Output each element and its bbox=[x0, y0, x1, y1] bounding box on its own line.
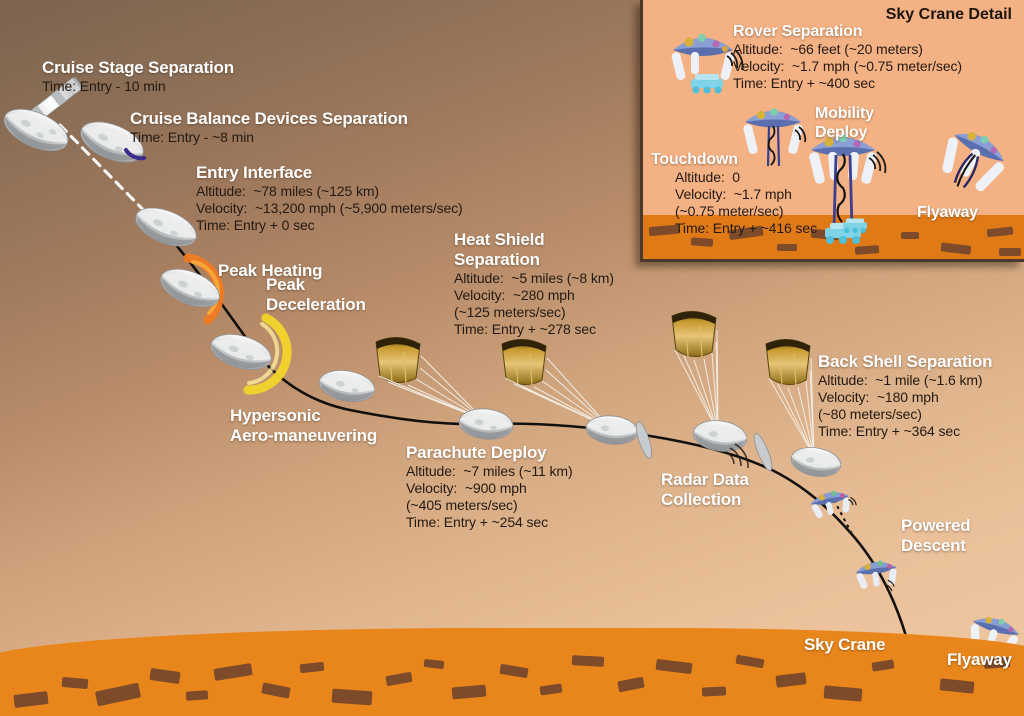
label-detail: Velocity: ~280 mph bbox=[454, 287, 614, 304]
label-heading: Rover Separation bbox=[733, 22, 962, 41]
parachute-icon bbox=[766, 339, 814, 456]
label-rover-separation: Rover Separation Altitude: ~66 feet (~20… bbox=[733, 22, 962, 92]
label-detail: Altitude: ~7 miles (~11 km) bbox=[406, 463, 573, 480]
label-detail: Altitude: 0 bbox=[651, 169, 817, 186]
surface-rock bbox=[62, 677, 89, 689]
sky-crane-detail-inset: Sky Crane Detail Rover Separation Altitu… bbox=[640, 0, 1024, 262]
label-heading: Mobility Deploy bbox=[815, 104, 874, 142]
label-parachute-deploy: Parachute Deploy Altitude: ~7 miles (~11… bbox=[406, 443, 573, 531]
aeroshell-capsule-icon bbox=[317, 366, 377, 405]
surface-rock bbox=[332, 689, 373, 706]
inset-rover-separation-icon bbox=[671, 34, 743, 94]
radar-beam-icon bbox=[726, 444, 748, 468]
label-detail: Altitude: ~78 miles (~125 km) bbox=[196, 183, 463, 200]
label-heading: Hypersonic Aero-maneuvering bbox=[230, 406, 377, 446]
label-detail: Velocity: ~900 mph bbox=[406, 480, 573, 497]
label-detail: Time: Entry + ~400 sec bbox=[733, 75, 962, 92]
heat-shield-jettison-icon bbox=[633, 420, 654, 459]
label-powered-descent: Powered Descent bbox=[901, 516, 970, 556]
label-detail: Time: Entry + ~416 sec bbox=[651, 220, 817, 237]
label-heading: Heat Shield Separation bbox=[454, 230, 614, 270]
label-detail: Altitude: ~5 miles (~8 km) bbox=[454, 270, 614, 287]
aeroshell-capsule-icon bbox=[130, 200, 201, 254]
inset-flyaway-icon bbox=[930, 121, 1014, 202]
label-heading: Sky Crane bbox=[804, 635, 885, 655]
label-heading: Flyaway bbox=[917, 203, 978, 222]
label-detail: Time: Entry + ~278 sec bbox=[454, 321, 614, 338]
label-detail: Velocity: ~1.7 mph bbox=[651, 186, 817, 203]
label-mobility-deploy: Mobility Deploy bbox=[815, 104, 874, 142]
heat-shield-jettison-icon bbox=[751, 432, 775, 473]
aeroshell-capsule-icon bbox=[458, 406, 515, 441]
label-heading: Cruise Balance Devices Separation bbox=[130, 109, 408, 129]
label-peak-deceleration: Peak Deceleration bbox=[266, 275, 366, 315]
label-sky-crane: Sky Crane bbox=[804, 635, 885, 655]
balance-device-marker bbox=[126, 150, 144, 158]
descent-stage-icon bbox=[854, 558, 900, 596]
label-detail: Velocity: ~180 mph bbox=[818, 389, 992, 406]
label-heading: Back Shell Separation bbox=[818, 352, 992, 372]
mars-edl-diagram: Cruise Stage Separation Time: Entry - 10… bbox=[0, 0, 1024, 716]
label-detail: Time: Entry - ~8 min bbox=[130, 129, 408, 146]
label-touchdown: Touchdown Altitude: 0 Velocity: ~1.7 mph… bbox=[651, 150, 817, 237]
label-detail: Time: Entry + ~254 sec bbox=[406, 514, 573, 531]
backshell-icon bbox=[789, 444, 843, 480]
surface-rock bbox=[572, 655, 604, 667]
label-heading: Parachute Deploy bbox=[406, 443, 573, 463]
aeroshell-capsule-icon bbox=[585, 413, 640, 446]
mars-surface bbox=[0, 616, 1024, 716]
label-detail: Velocity: ~13,200 mph (~5,900 meters/sec… bbox=[196, 200, 463, 217]
aeroshell-capsule-icon bbox=[691, 417, 749, 454]
label-entry-interface: Entry Interface Altitude: ~78 miles (~12… bbox=[196, 163, 463, 234]
label-heading: Flyaway bbox=[947, 650, 1012, 670]
label-heading: Entry Interface bbox=[196, 163, 463, 183]
label-flyaway: Flyaway bbox=[947, 650, 1012, 670]
label-cruise-stage-separation: Cruise Stage Separation Time: Entry - 10… bbox=[42, 58, 234, 95]
surface-rock bbox=[186, 690, 209, 701]
surface-rock bbox=[702, 686, 726, 696]
label-detail: Velocity: ~1.7 mph (~0.75 meter/sec) bbox=[733, 58, 962, 75]
label-heading: Radar Data Collection bbox=[661, 470, 749, 510]
label-detail: (~80 meters/sec) bbox=[818, 406, 992, 423]
label-detail: (~125 meters/sec) bbox=[454, 304, 614, 321]
label-inset-flyaway: Flyaway bbox=[917, 203, 978, 222]
label-detail: Time: Entry - 10 min bbox=[42, 78, 234, 95]
label-heading: Cruise Stage Separation bbox=[42, 58, 234, 78]
label-heat-shield-separation: Heat Shield Separation Altitude: ~5 mile… bbox=[454, 230, 614, 338]
label-detail: (~405 meters/sec) bbox=[406, 497, 573, 514]
parachute-icon bbox=[672, 311, 718, 432]
label-back-shell-separation: Back Shell Separation Altitude: ~1 mile … bbox=[818, 352, 992, 440]
aeroshell-capsule-icon bbox=[207, 328, 275, 376]
descent-stage-icon bbox=[809, 487, 858, 520]
label-detail: Time: Entry + ~364 sec bbox=[818, 423, 992, 440]
parachute-icon bbox=[376, 337, 484, 420]
label-heading: Touchdown bbox=[651, 150, 817, 169]
parachute-icon bbox=[502, 339, 610, 428]
label-detail: Time: Entry + 0 sec bbox=[196, 217, 463, 234]
label-heading: Powered Descent bbox=[901, 516, 970, 556]
label-hypersonic-aero-maneuvering: Hypersonic Aero-maneuvering bbox=[230, 406, 377, 446]
aeroshell-capsule-icon bbox=[0, 101, 74, 160]
aeroshell-capsule-icon bbox=[155, 262, 224, 315]
label-cruise-balance-devices-separation: Cruise Balance Devices Separation Time: … bbox=[130, 109, 408, 146]
label-detail: (~0.75 meter/sec) bbox=[651, 203, 817, 220]
label-detail: Altitude: ~66 feet (~20 meters) bbox=[733, 41, 962, 58]
label-radar-data-collection: Radar Data Collection bbox=[661, 470, 749, 510]
label-detail: Altitude: ~1 mile (~1.6 km) bbox=[818, 372, 992, 389]
label-heading: Peak Deceleration bbox=[266, 275, 366, 315]
